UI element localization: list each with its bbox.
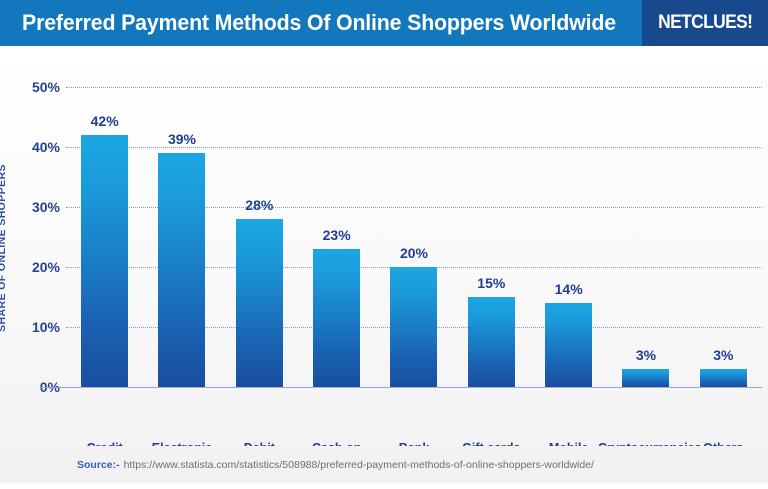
bar-group[interactable]: 3% (685, 87, 762, 387)
bar-group[interactable]: 28% (221, 87, 298, 387)
bar-value-label: 14% (530, 281, 607, 297)
bar-group[interactable]: 39% (143, 87, 220, 387)
chart-canvas: SHARE OF ONLINE SHOPPERS 50%40%30%20%10%… (0, 46, 768, 446)
bar-value-label: 42% (66, 113, 143, 129)
bar[interactable] (236, 219, 283, 387)
bar[interactable] (158, 153, 205, 387)
bar-value-label: 3% (685, 347, 762, 363)
bar-group[interactable]: 15% (453, 87, 530, 387)
bar-value-label: 15% (453, 275, 530, 291)
bar-group[interactable]: 14% (530, 87, 607, 387)
bar-value-label: 3% (607, 347, 684, 363)
netclues-logo: NETCLUES! (642, 0, 768, 46)
y-axis-title: SHARE OF ONLINE SHOPPERS (0, 148, 8, 348)
source-label: Source:- (77, 459, 120, 471)
y-axis-tick-label: 50% (20, 79, 60, 95)
page-title: Preferred Payment Methods Of Online Shop… (22, 10, 616, 36)
bar-value-label: 28% (221, 197, 298, 213)
bar-group[interactable]: 23% (298, 87, 375, 387)
bar-value-label: 39% (143, 131, 220, 147)
x-axis-line (40, 387, 762, 388)
bar[interactable] (313, 249, 360, 387)
source-url: https://www.statista.com/statistics/5089… (124, 459, 594, 471)
y-axis-tick-label: 10% (20, 319, 60, 335)
header-bar: Preferred Payment Methods Of Online Shop… (0, 0, 768, 46)
bar[interactable] (468, 297, 515, 387)
bar-group[interactable]: 3% (607, 87, 684, 387)
bar[interactable] (390, 267, 437, 387)
source-footer: Source:- https://www.statista.com/statis… (0, 446, 768, 483)
y-axis-tick-label: 30% (20, 199, 60, 215)
bar[interactable] (545, 303, 592, 387)
plot-area: 42%39%28%23%20%15%14%3%3% (66, 87, 762, 387)
bar-value-label: 23% (298, 227, 375, 243)
bar-value-label: 20% (375, 245, 452, 261)
bar-group[interactable]: 42% (66, 87, 143, 387)
logo-text: NETCLUES! (658, 12, 752, 34)
infographic-page: Preferred Payment Methods Of Online Shop… (0, 0, 768, 483)
bar-group[interactable]: 20% (375, 87, 452, 387)
bar[interactable] (81, 135, 128, 387)
y-axis-tick-label: 20% (20, 259, 60, 275)
bar[interactable] (700, 369, 747, 387)
bar[interactable] (622, 369, 669, 387)
y-axis-tick-label: 40% (20, 139, 60, 155)
